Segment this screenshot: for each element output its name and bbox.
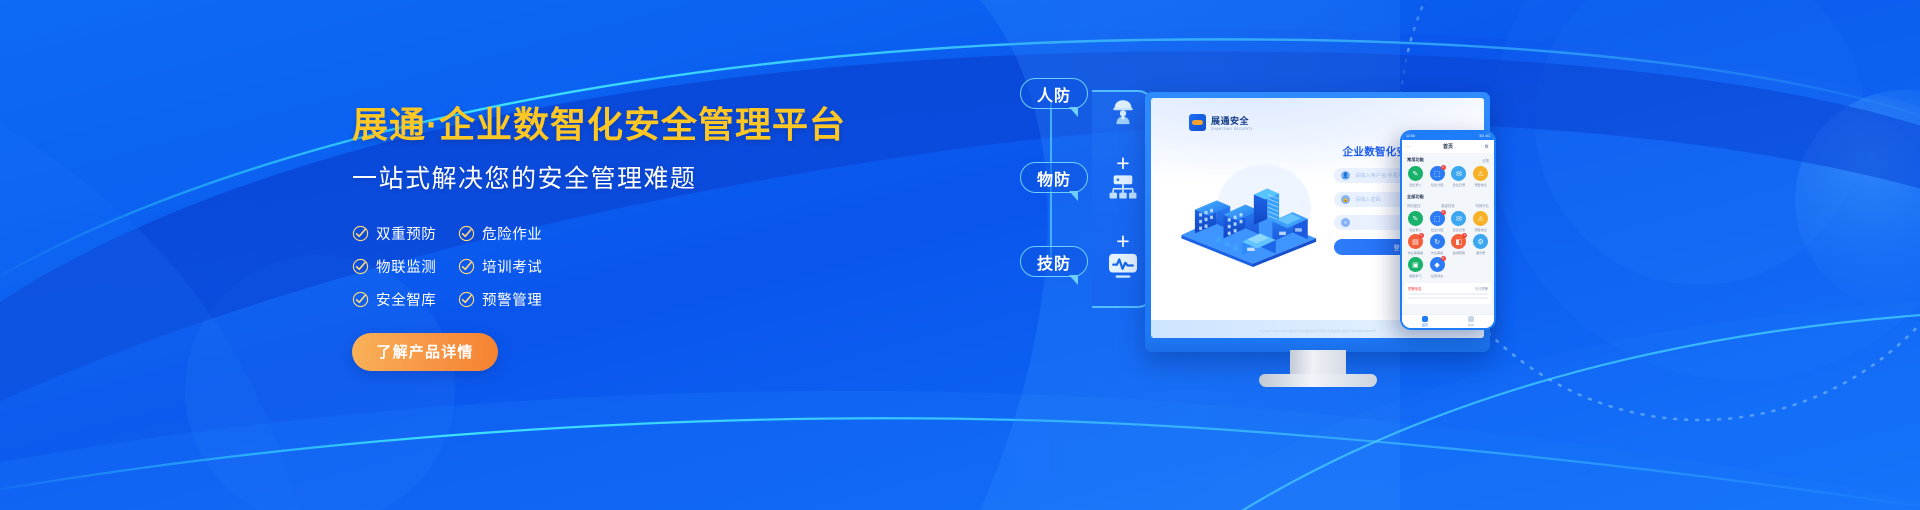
feature-item: 培训考试 <box>458 250 564 283</box>
app-label: 通讯录 <box>1470 250 1491 255</box>
username-placeholder: 请输入用户名/手机号 <box>1355 172 1403 179</box>
feature-label: 危险作业 <box>482 223 542 244</box>
app-glyph: ✎ <box>1412 215 1418 223</box>
app-icon: ✎ <box>1408 211 1423 226</box>
check-circle-icon <box>352 258 369 275</box>
feature-label: 物联监测 <box>376 256 436 277</box>
app-glyph: ↻ <box>1434 238 1440 246</box>
app-icon: ↻ <box>1430 234 1445 249</box>
hero-copy: 展通·企业数智化安全管理平台 一站式解决您的安全管理难题 双重预防 危险作业 <box>352 104 912 371</box>
check-circle-icon <box>352 225 369 242</box>
app-label: 作业审批 <box>1427 250 1448 255</box>
check-circle-icon <box>458 291 475 308</box>
app-tile[interactable]: ⚙ 通讯录 <box>1470 234 1491 255</box>
app-tile[interactable]: ▣ 制度学习 <box>1405 257 1426 278</box>
plus-operator-1: + <box>1096 152 1150 175</box>
app-tile[interactable]: ⬚ 3 隐患分配 <box>1427 166 1448 187</box>
page-subtitle: 一站式解决您的安全管理难题 <box>352 159 912 195</box>
device-network-glyph <box>1108 174 1138 200</box>
password-placeholder: 请输入密码 <box>1355 196 1381 203</box>
app-glyph: ▣ <box>1412 261 1419 269</box>
user-icon: 👤 <box>1341 171 1350 180</box>
notification-badge: 9 <box>1441 256 1446 261</box>
monitor-pulse-icon <box>1096 252 1150 285</box>
app-tile[interactable]: ◧ 5 监测预警 <box>1449 234 1470 255</box>
logo-subtext: ZHANTONG SECURITY <box>1211 127 1253 131</box>
app-icon: ▣ <box>1408 257 1423 272</box>
isometric-city-illustration <box>1173 164 1333 274</box>
notification-badge: 5 <box>1462 233 1467 238</box>
app-tile[interactable]: ⬚ 3 隐患分配 <box>1427 211 1448 232</box>
feature-item: 预警管理 <box>458 283 564 316</box>
feature-list: 双重预防 危险作业 物联监测 <box>352 217 662 316</box>
hero-banner: 展通·企业数智化安全管理平台 一站式解决您的安全管理难题 双重预防 危险作业 <box>0 0 1920 510</box>
worker-helmet-icon <box>1096 96 1150 131</box>
check-circle-icon <box>352 291 369 308</box>
home-icon <box>1422 316 1428 322</box>
defense-pill-jifang[interactable]: 技防 <box>1020 246 1088 277</box>
tab-special-work[interactable]: 特殊作业 <box>1475 203 1489 208</box>
app-icon: ◆ 9 <box>1430 257 1445 272</box>
app-icon: ⬚ 3 <box>1430 211 1445 226</box>
monitor-base <box>1259 374 1377 387</box>
check-circle-icon <box>458 258 475 275</box>
app-icon: ⚠ <box>1473 166 1488 181</box>
app-glyph: ✎ <box>1412 170 1418 178</box>
app-icon: ✉ <box>1451 166 1466 181</box>
device-network-icon <box>1096 174 1150 205</box>
app-icon: ⚙ <box>1473 234 1488 249</box>
app-glyph: ✉ <box>1456 170 1462 178</box>
worker-helmet-glyph <box>1108 96 1138 126</box>
defense-pill-wufang[interactable]: 物防 <box>1020 162 1088 193</box>
feature-item: 危险作业 <box>458 217 564 250</box>
feature-label: 双重预防 <box>376 223 436 244</box>
notification-badge: 3 <box>1441 210 1446 215</box>
app-glyph: ✉ <box>1456 215 1462 223</box>
app-label: 作业票填报 <box>1405 250 1426 255</box>
app-label: 监测预警 <box>1449 250 1470 255</box>
app-icon: ✉ <box>1451 211 1466 226</box>
phone-tab-row: 风险管控 隐患排查 特殊作业 <box>1402 202 1494 210</box>
tab-risk[interactable]: 风险管控 <box>1407 203 1421 208</box>
learn-more-button[interactable]: 了解产品详情 <box>352 333 498 371</box>
app-glyph: ⚠ <box>1477 215 1483 223</box>
all-apps-grid: ✎ 隐患录入 ⬚ 3 隐患分配 ✉ <box>1402 210 1494 281</box>
app-tile[interactable]: ◆ 9 任务待办 <box>1427 257 1448 278</box>
phone-tab-bar: 首页 我的 <box>1402 314 1494 328</box>
app-tile[interactable]: ✉ 隐患记录 <box>1449 166 1470 187</box>
notification-badge: 3 <box>1441 165 1446 170</box>
alert-card-header: 预警信息 今日预警 <box>1408 286 1488 291</box>
app-icon: ⬚ 3 <box>1430 166 1445 181</box>
app-label: 任务待办 <box>1427 273 1448 278</box>
app-tile[interactable]: ✉ 隐患记录 <box>1449 211 1470 232</box>
all-section-header: 全部功能 <box>1402 190 1494 202</box>
feature-item: 安全智库 <box>352 283 458 316</box>
app-glyph: ⚙ <box>1477 238 1483 246</box>
app-icon: ◧ 5 <box>1451 234 1466 249</box>
app-tile[interactable]: ▤ 2 作业票填报 <box>1405 234 1426 255</box>
arrow-icon: » <box>1341 218 1350 227</box>
tabbar-label: 我的 <box>1468 323 1474 327</box>
feature-item: 双重预防 <box>352 217 458 250</box>
app-tile[interactable]: ✎ 隐患录入 <box>1405 166 1426 187</box>
background-decoration <box>0 0 1920 510</box>
alert-card-line <box>1408 293 1488 295</box>
app-label: 隐患录入 <box>1405 227 1426 232</box>
check-circle-icon <box>458 225 475 242</box>
app-glyph: ⬚ <box>1434 215 1441 223</box>
app-label: 隐患分配 <box>1427 227 1448 232</box>
logo-text: 展通安全 <box>1211 114 1253 127</box>
status-signal: 5G 4G <box>1479 134 1490 138</box>
all-title: 全部功能 <box>1407 194 1424 200</box>
device-showcase: 人防 物防 技防 + <box>1020 72 1620 452</box>
app-glyph: ⬚ <box>1434 170 1441 178</box>
tab-hazard[interactable]: 隐患排查 <box>1441 203 1455 208</box>
phone-screen: 12:50 5G 4G ··· 首页 ⚙ 常用功能 设置 ✎ <box>1402 132 1494 328</box>
plus-operator-2: + <box>1096 230 1150 253</box>
phone-status-bar: 12:50 5G 4G <box>1402 132 1494 140</box>
app-tile[interactable]: ✎ 隐患录入 <box>1405 211 1426 232</box>
app-glyph: ▤ <box>1412 238 1419 246</box>
alert-card-tag: 今日预警 <box>1474 286 1488 291</box>
gear-icon[interactable]: ⚙ <box>1485 144 1489 150</box>
tabbar-item-profile[interactable]: 我的 <box>1468 316 1474 327</box>
app-glyph: ◧ <box>1456 238 1463 246</box>
feature-item: 物联监测 <box>352 250 458 283</box>
platform-logo: 展通安全 ZHANTONG SECURITY <box>1189 114 1253 131</box>
favorites-settings-link[interactable]: 设置 <box>1482 158 1489 163</box>
favorites-title: 常用功能 <box>1407 157 1424 163</box>
background-shapes <box>0 0 1920 510</box>
favorites-section-header: 常用功能 设置 <box>1402 153 1494 165</box>
feature-label: 培训考试 <box>482 256 542 277</box>
tabbar-label: 首页 <box>1422 323 1428 327</box>
app-icon: ✎ <box>1408 166 1423 181</box>
lock-icon: 🔒 <box>1341 195 1350 204</box>
alert-card-title: 预警信息 <box>1408 286 1422 291</box>
app-label: 预警信息 <box>1470 227 1491 232</box>
app-label: 隐患录入 <box>1405 182 1426 187</box>
mobile-phone: 12:50 5G 4G ··· 首页 ⚙ 常用功能 设置 ✎ <box>1400 130 1496 330</box>
nav-more-icon[interactable]: ··· <box>1407 144 1411 149</box>
app-glyph: ⚠ <box>1477 170 1483 178</box>
app-label: 隐患记录 <box>1449 227 1470 232</box>
feature-label: 安全智库 <box>376 289 436 310</box>
defense-pill-renfang[interactable]: 人防 <box>1020 78 1088 109</box>
status-time: 12:50 <box>1406 134 1415 138</box>
person-icon <box>1468 316 1474 322</box>
app-label: 预警信息 <box>1470 182 1491 187</box>
app-icon: ▤ 2 <box>1408 234 1423 249</box>
app-glyph: ◆ <box>1434 261 1439 269</box>
nav-title: 首页 <box>1443 143 1453 150</box>
app-tile[interactable]: ↻ 作业审批 <box>1427 234 1448 255</box>
notification-badge: 2 <box>1419 233 1424 238</box>
feature-label: 预警管理 <box>482 289 542 310</box>
favorites-grid: ✎ 隐患录入 ⬚ 3 隐患分配 ✉ <box>1402 165 1494 190</box>
app-label: 隐患记录 <box>1449 182 1470 187</box>
app-tile[interactable]: ⚠ 预警信息 <box>1470 166 1491 187</box>
app-tile[interactable]: ⚠ 预警信息 <box>1470 211 1491 232</box>
alert-card: 预警信息 今日预警 <box>1405 283 1491 304</box>
tabbar-item-home[interactable]: 首页 <box>1422 316 1428 327</box>
alert-card-line <box>1408 297 1488 299</box>
phone-nav-bar: ··· 首页 ⚙ <box>1402 140 1494 153</box>
app-label: 隐患分配 <box>1427 182 1448 187</box>
app-icon: ⚠ <box>1473 211 1488 226</box>
monitor-pulse-glyph <box>1107 252 1139 280</box>
logo-mark-icon <box>1189 114 1206 131</box>
page-title: 展通·企业数智化安全管理平台 <box>352 104 912 146</box>
app-label: 制度学习 <box>1405 273 1426 278</box>
